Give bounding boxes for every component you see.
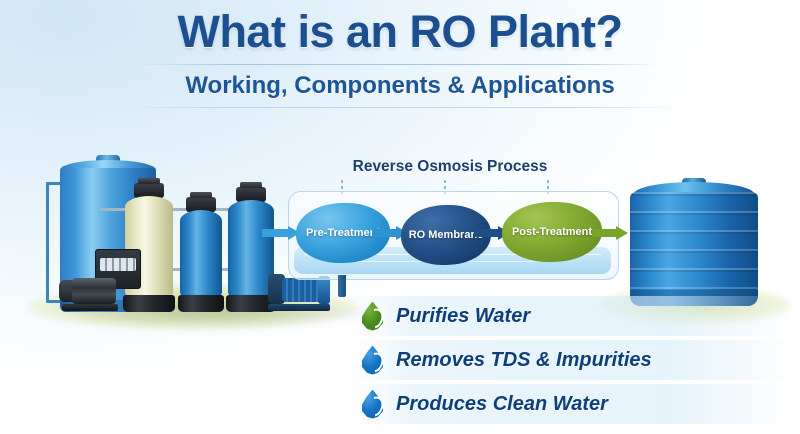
infographic-poster: What is an RO Plant? Working, Components… xyxy=(0,0,800,434)
arrow-shaft xyxy=(262,229,290,237)
drop-swirl xyxy=(362,393,388,420)
booster-pump-motor xyxy=(282,278,322,302)
control-panel-gauges xyxy=(100,258,136,271)
treated-water-arrow xyxy=(592,226,628,240)
feed-water-arrow xyxy=(262,226,300,240)
process-label: Reverse Osmosis Process xyxy=(300,158,600,176)
booster-pump-base xyxy=(268,304,330,311)
treated-water-storage-tank xyxy=(630,178,758,308)
pump-base xyxy=(62,304,118,311)
water-drop-icon xyxy=(360,346,385,375)
pump-motor xyxy=(72,278,116,304)
booster-pump-cap xyxy=(318,276,330,304)
list-item[interactable]: Removes TDS & Impurities xyxy=(360,340,790,380)
process-step-post-treatment[interactable]: Post-Treatment xyxy=(502,202,602,262)
benefit-label: Produces Clean Water xyxy=(396,393,608,416)
drop-swirl xyxy=(362,349,388,376)
arrow-shaft xyxy=(474,229,500,237)
water-drop-icon xyxy=(360,302,385,331)
feed-pipe-vertical xyxy=(46,182,49,302)
arrow-shaft xyxy=(372,229,398,237)
filter-1-foot xyxy=(178,295,224,312)
water-drop-icon xyxy=(360,390,385,419)
softener-foot xyxy=(123,295,175,312)
benefit-label: Purifies Water xyxy=(396,305,530,328)
process-step-label: Pre-Treatment xyxy=(306,227,380,239)
process-step-label: Post-Treatment xyxy=(512,226,592,238)
arrow-shaft xyxy=(592,229,618,237)
benefit-label: Removes TDS & Impurities xyxy=(396,349,652,372)
benefits-list: Purifies Water Removes TDS & Impurities … xyxy=(360,296,790,424)
drop-swirl xyxy=(362,305,388,332)
filter-1-body xyxy=(180,220,222,296)
list-item[interactable]: Produces Clean Water xyxy=(360,384,790,424)
arrow-head xyxy=(616,226,628,240)
storage-tank-body xyxy=(630,192,758,298)
ro-plant-equipment-illustration xyxy=(0,0,340,340)
panel-support-leg-left xyxy=(338,275,346,297)
process-step-label: RO Membrane xyxy=(409,229,484,241)
list-item[interactable]: Purifies Water xyxy=(360,296,790,336)
filter-vessel-1 xyxy=(180,210,222,312)
